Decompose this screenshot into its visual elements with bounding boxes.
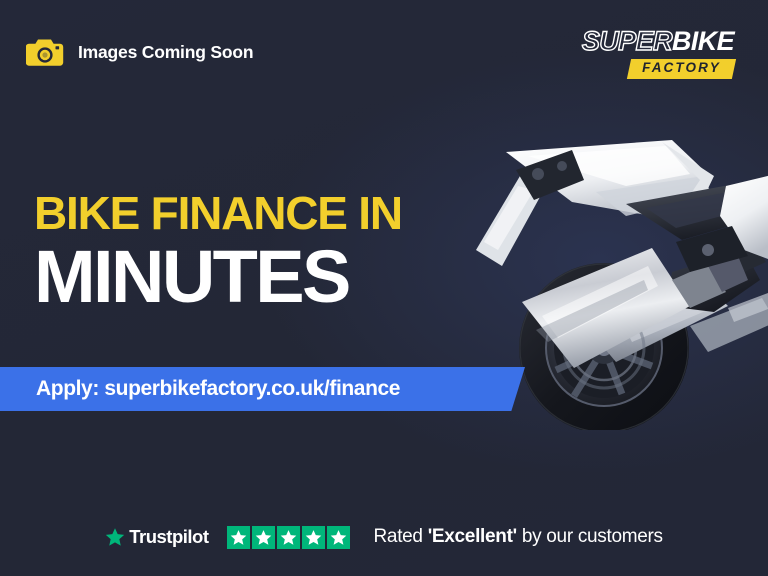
rating-value: 'Excellent' [428,526,517,547]
headline: BIKE FINANCE IN MINUTES [34,190,402,314]
headline-line-1: BIKE FINANCE IN [34,190,402,237]
star-icon [252,526,275,549]
camera-icon [26,38,64,67]
logo-factory-banner: FACTORY [627,59,736,79]
trustpilot-wordmark: Trustpilot [129,526,208,548]
rating-prefix: Rated [374,526,428,547]
trustpilot-star-icon [105,527,125,547]
rating-suffix: by our customers [517,526,663,547]
plate-hanger [476,150,584,266]
star-icon [227,526,250,549]
star-icon [277,526,300,549]
logo-bike-text: BIKE [672,26,734,56]
apply-url-text: Apply: superbikefactory.co.uk/finance [0,377,400,401]
headline-line-2: MINUTES [34,239,402,314]
trustpilot-star-rating [227,526,350,549]
logo-factory-text: FACTORY [642,61,721,76]
motorcycle-photo [476,130,768,430]
logo-super-text: SUPER [582,26,672,56]
images-coming-soon-group: Images Coming Soon [26,38,253,67]
superbike-factory-logo: SUPERBIKE FACTORY [582,28,734,79]
images-coming-soon-label: Images Coming Soon [78,42,253,63]
star-icon [302,526,325,549]
logo-top-row: SUPERBIKE [582,28,734,55]
trustpilot-footer: Trustpilot Rated 'Excellent' by our cust… [0,498,768,576]
star-icon [327,526,350,549]
promo-banner: Images Coming Soon SUPERBIKE FACTORY BIK… [0,0,768,576]
trustpilot-logo: Trustpilot [105,526,208,548]
apply-url-banner[interactable]: Apply: superbikefactory.co.uk/finance [0,367,525,411]
rating-caption: Rated 'Excellent' by our customers [374,526,663,548]
